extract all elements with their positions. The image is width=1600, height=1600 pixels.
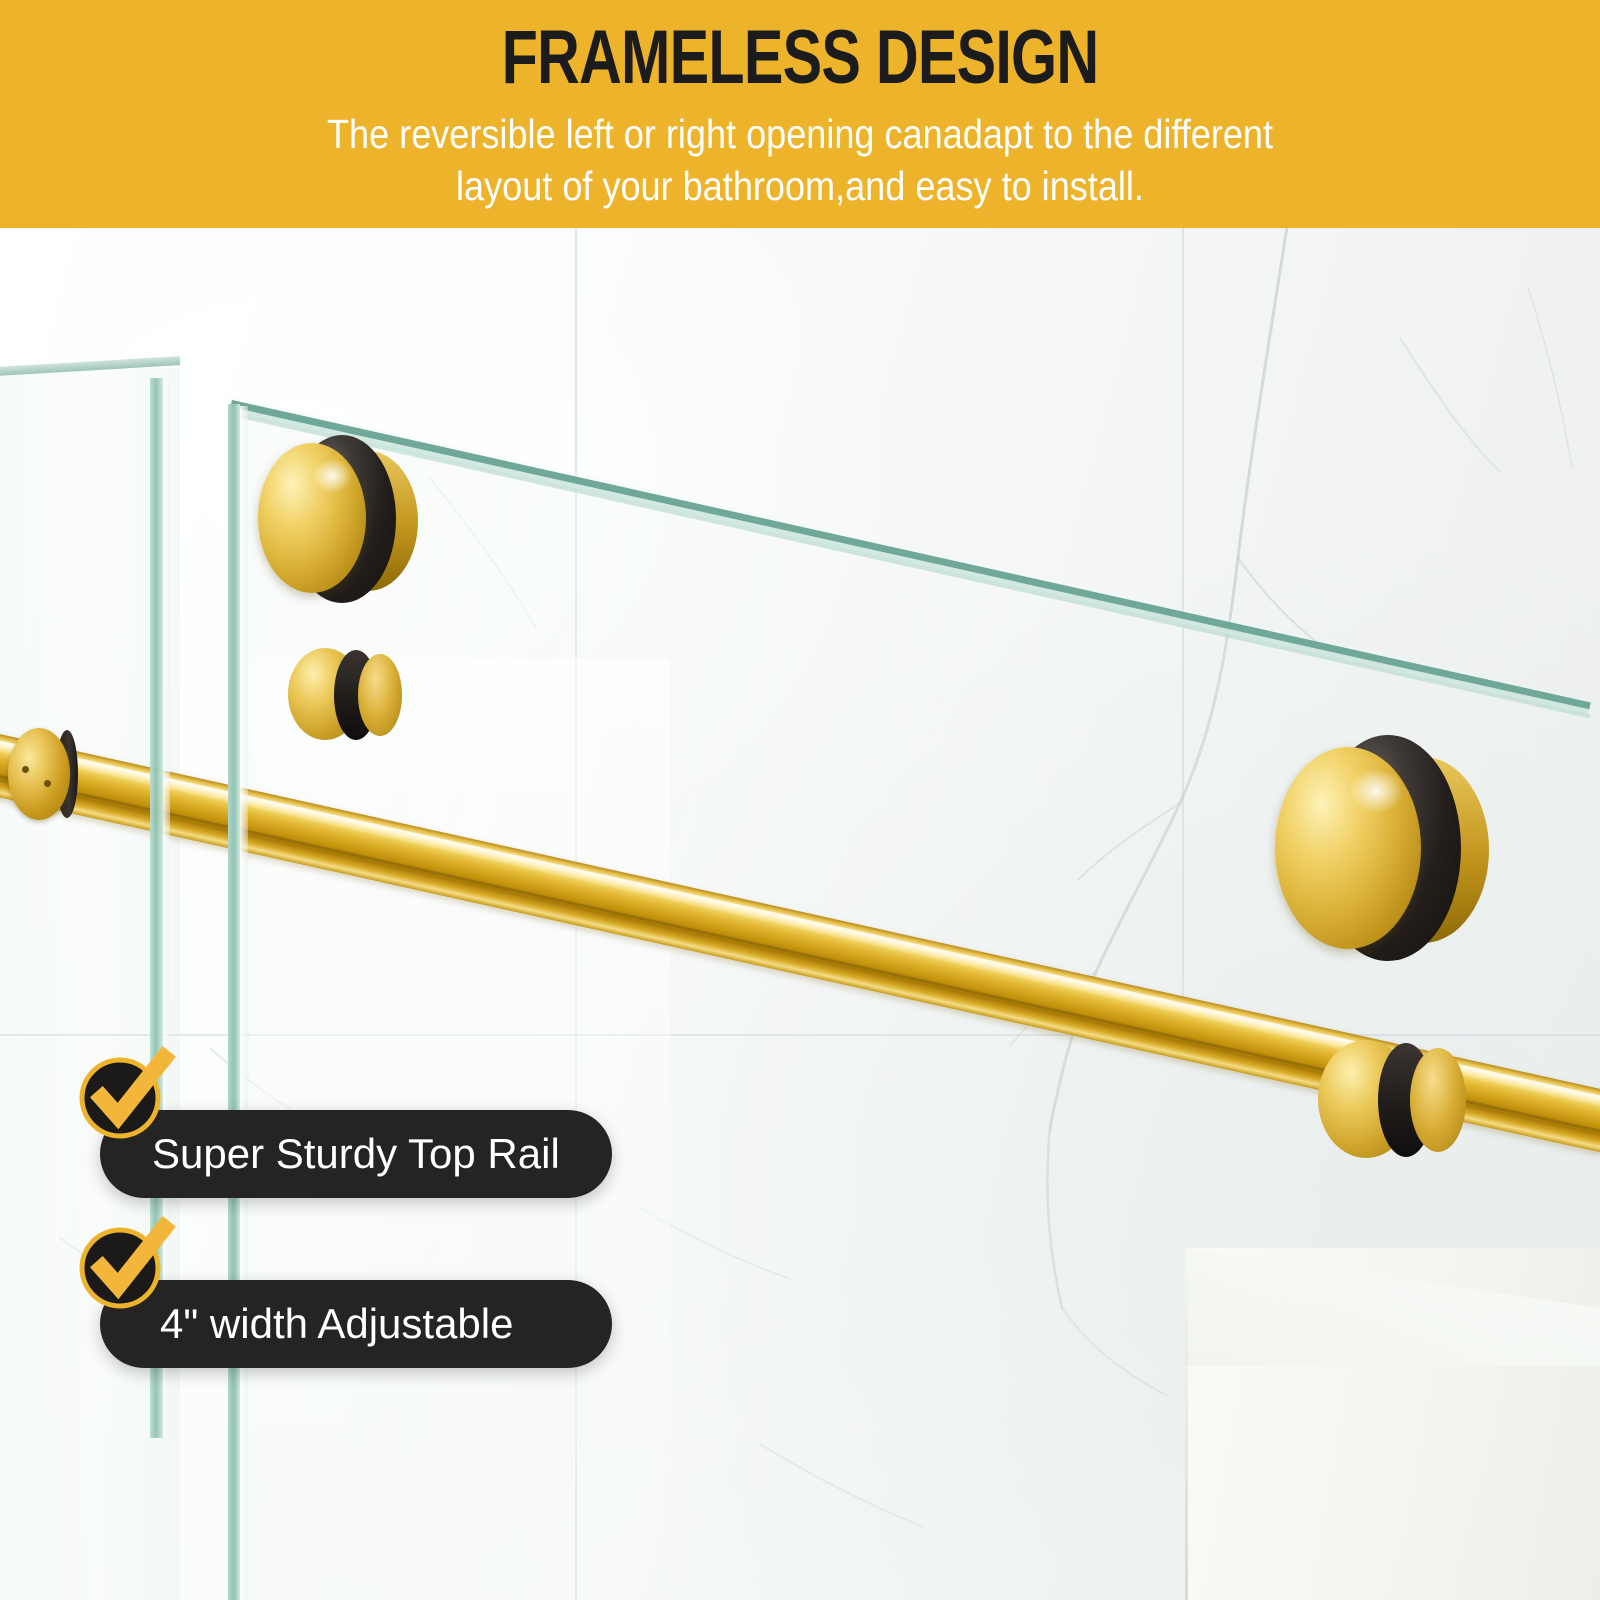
roller-left bbox=[258, 433, 418, 608]
roller-specular-highlight bbox=[1349, 769, 1403, 813]
roller-gold-cap bbox=[1275, 747, 1421, 949]
check-badge-icon bbox=[78, 1220, 170, 1312]
wall-mount-flange bbox=[8, 728, 70, 820]
product-photo: Super Sturdy Top Rail 4" width Adjustabl… bbox=[0, 228, 1600, 1600]
wheel-gold-back bbox=[1410, 1048, 1466, 1152]
roller-specular-highlight bbox=[312, 459, 352, 493]
product-feature-image: FRAMELESS DESIGN The reversible left or … bbox=[0, 0, 1600, 1600]
roller-gold-cap bbox=[258, 443, 366, 593]
feature-label: 4" width Adjustable bbox=[160, 1303, 513, 1345]
glass-door-left-edge bbox=[228, 404, 240, 1600]
feature-pill-1: Super Sturdy Top Rail bbox=[100, 1110, 612, 1198]
wheel-left bbox=[288, 648, 404, 744]
flange-screw-hole bbox=[22, 766, 29, 773]
feature-label: Super Sturdy Top Rail bbox=[152, 1133, 560, 1175]
wheel-right bbox=[1318, 1040, 1468, 1162]
wheel-gold-back bbox=[358, 654, 402, 736]
roller-right bbox=[1275, 733, 1490, 968]
feature-pill-2: 4" width Adjustable bbox=[100, 1280, 612, 1368]
banner-subtitle: The reversible left or right opening can… bbox=[175, 108, 1425, 212]
page-title: FRAMELESS DESIGN bbox=[176, 16, 1424, 100]
flange-screw-hole bbox=[44, 780, 51, 787]
check-badge-icon bbox=[78, 1050, 170, 1142]
header-banner: FRAMELESS DESIGN The reversible left or … bbox=[0, 0, 1600, 228]
glass-door-left-edge-inner bbox=[240, 406, 248, 1600]
